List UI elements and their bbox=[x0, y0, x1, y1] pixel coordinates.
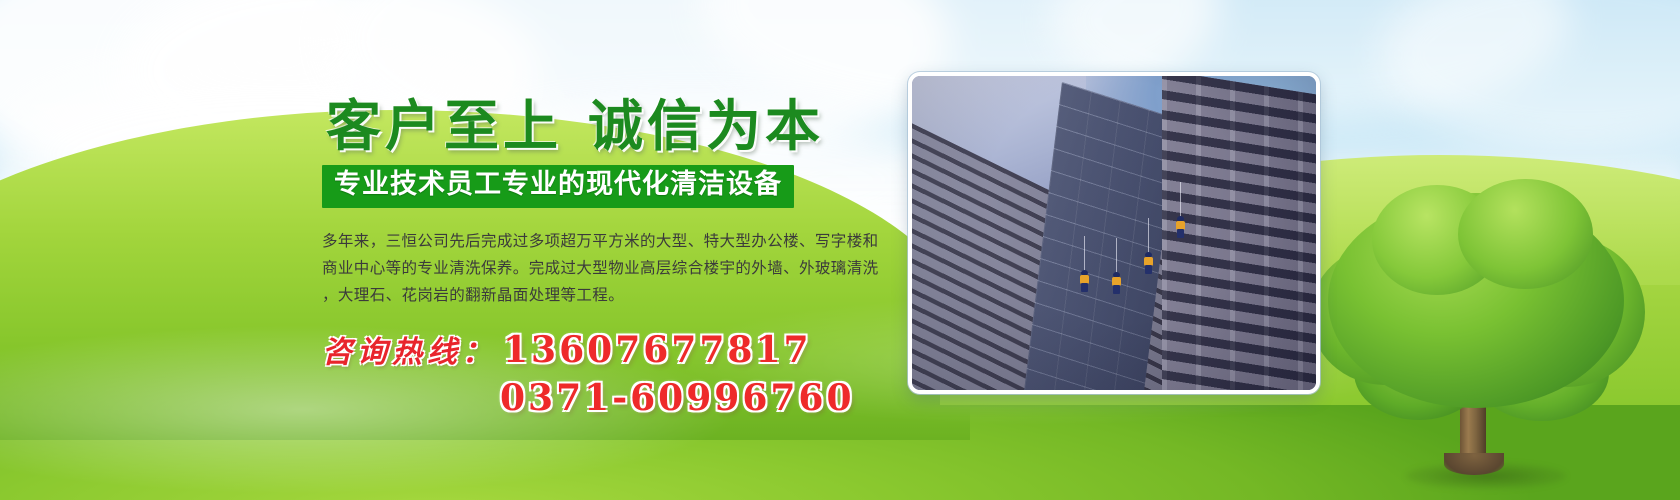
tree-canopy-lobe bbox=[1458, 179, 1593, 289]
description-line-1: 多年来，三恒公司先后完成过多项超万平方米的大型、特大型办公楼、写字楼和 bbox=[322, 228, 887, 255]
tree-root-base bbox=[1444, 453, 1504, 475]
building-photo-card[interactable] bbox=[908, 72, 1320, 394]
landline-row: 0371-60996760 bbox=[322, 377, 902, 419]
hotline-landline-number[interactable]: 0371-60996760 bbox=[500, 377, 855, 419]
page-title: 客户至上诚信为本 bbox=[326, 96, 902, 155]
large-green-tree bbox=[1310, 185, 1640, 480]
cloud-shape bbox=[1380, 0, 1680, 150]
hotline-mobile-number[interactable]: 13607677817 bbox=[503, 329, 812, 371]
hotline-label: 咨询热线： bbox=[322, 327, 497, 371]
subheading-text: 专业技术员工专业的现代化清洁设备 bbox=[334, 171, 782, 199]
description-line-2: 商业中心等的专业清洗保养。完成过大型物业高层综合楼宇的外墙、外玻璃清洗 bbox=[322, 255, 887, 282]
subheading-band: 专业技术员工专业的现代化清洁设备 bbox=[322, 165, 794, 207]
hotline-row: 咨询热线： 13607677817 bbox=[322, 327, 902, 371]
description-paragraph: 多年来，三恒公司先后完成过多项超万平方米的大型、特大型办公楼、写字楼和 商业中心… bbox=[322, 228, 887, 309]
headline-part-1: 客户至上 bbox=[326, 93, 562, 158]
headline-part-2: 诚信为本 bbox=[588, 93, 824, 158]
banner-text-content: 客户至上诚信为本 专业技术员工专业的现代化清洁设备 多年来，三恒公司先后完成过多… bbox=[322, 96, 902, 419]
description-line-3: ，大理石、花岗岩的翻新晶面处理等工程。 bbox=[322, 282, 887, 309]
photo-vignette bbox=[912, 76, 1316, 390]
promotional-banner: 客户至上诚信为本 专业技术员工专业的现代化清洁设备 多年来，三恒公司先后完成过多… bbox=[0, 0, 1680, 500]
